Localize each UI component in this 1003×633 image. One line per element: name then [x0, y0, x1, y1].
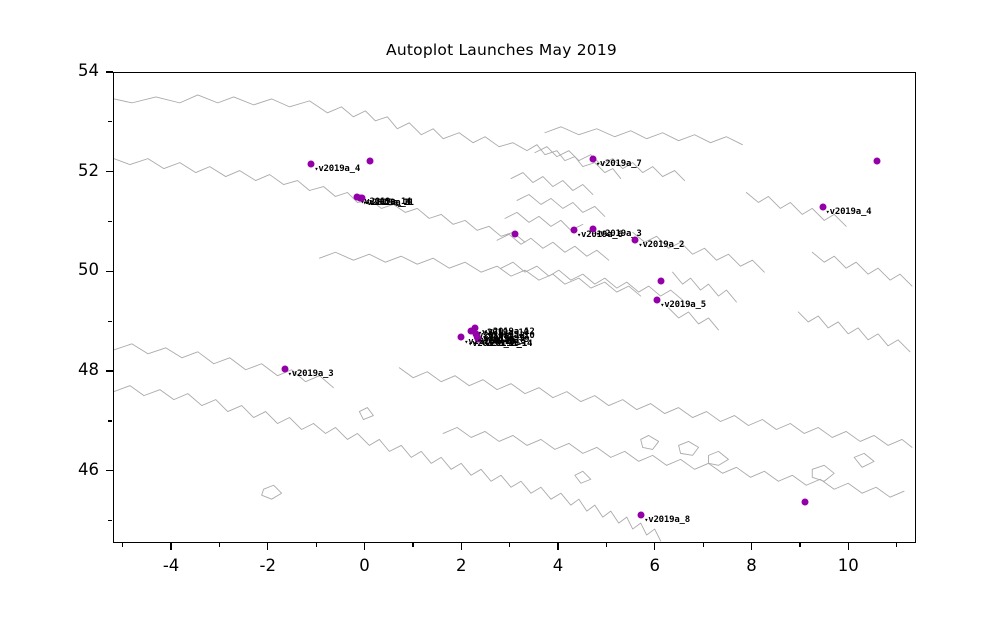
x-tick-major [170, 543, 171, 550]
x-tick-major [364, 543, 365, 550]
x-tick-minor [703, 543, 704, 547]
data-point [657, 278, 664, 285]
x-tick-major [848, 543, 849, 550]
x-tick-minor [412, 543, 413, 547]
x-tick-minor [316, 543, 317, 547]
y-tick-label: 48 [33, 362, 99, 379]
y-tick-minor [108, 321, 112, 322]
y-tick-label: 46 [33, 462, 99, 479]
x-tick-label: 10 [818, 558, 878, 575]
x-tick-major [654, 543, 655, 550]
x-tick-label: 8 [722, 558, 782, 575]
data-point [512, 230, 519, 237]
data-point-label: ▾v2019a_8 [644, 516, 690, 525]
x-tick-major [461, 543, 462, 550]
data-point [874, 157, 881, 164]
chart-title: Autoplot Launches May 2019 [0, 41, 1003, 59]
y-tick-label: 54 [33, 63, 99, 80]
y-tick-major [106, 71, 113, 72]
y-tick-minor [108, 420, 112, 421]
data-point-label: ▾v2019a_7 [596, 160, 642, 169]
x-tick-minor [606, 543, 607, 547]
x-tick-minor [219, 543, 220, 547]
x-tick-minor [896, 543, 897, 547]
x-tick-label: 4 [528, 558, 588, 575]
y-tick-minor [108, 121, 112, 122]
data-point-label: ▾v2019a_3 [288, 370, 334, 379]
y-tick-major [106, 271, 113, 272]
x-tick-label: -4 [141, 558, 201, 575]
data-point [801, 498, 808, 505]
plot-area [113, 72, 916, 543]
x-tick-minor [122, 543, 123, 547]
y-tick-major [106, 370, 113, 371]
x-tick-minor [509, 543, 510, 547]
x-tick-label: 2 [431, 558, 491, 575]
data-point-label: ▾v2019a_1 [365, 199, 411, 208]
x-tick-label: -2 [238, 558, 298, 575]
y-tick-minor [108, 520, 112, 521]
x-tick-major [267, 543, 268, 550]
x-tick-major [557, 543, 558, 550]
figure-canvas: Autoplot Launches May 2019 [0, 0, 1003, 633]
data-point-label: ▾v2019a_4 [826, 208, 872, 217]
data-point-label: ▾v2019a_2 [638, 241, 684, 250]
y-tick-major [106, 171, 113, 172]
x-tick-label: 6 [625, 558, 685, 575]
data-point-label: ▾v2019a_14 [481, 340, 532, 349]
y-tick-major [106, 470, 113, 471]
y-tick-label: 52 [33, 163, 99, 180]
data-point-label: ▾v2019a_5 [660, 301, 706, 310]
x-tick-label: 0 [335, 558, 395, 575]
x-tick-major [751, 543, 752, 550]
data-point-label: ▾v2019a_4 [314, 165, 360, 174]
x-tick-minor [799, 543, 800, 547]
y-tick-label: 50 [33, 262, 99, 279]
y-tick-minor [108, 221, 112, 222]
coastline-map [114, 73, 915, 542]
data-point [367, 157, 374, 164]
